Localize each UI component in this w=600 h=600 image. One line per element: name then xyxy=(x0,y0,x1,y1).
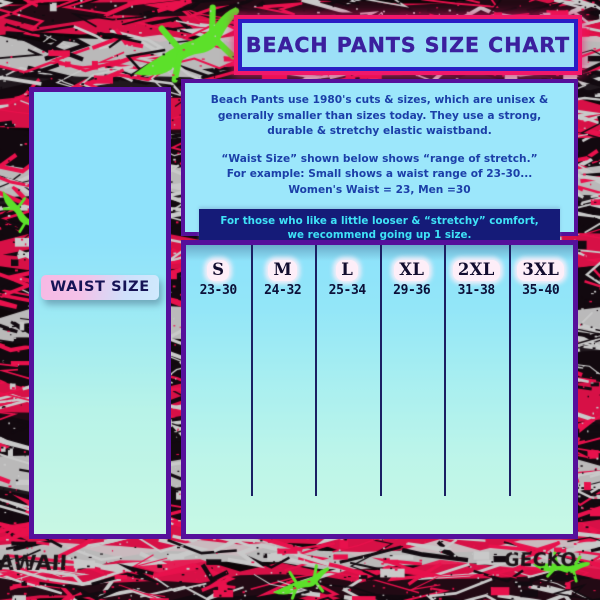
size-column: 2XL31-38 xyxy=(444,245,509,534)
size-column: L25-34 xyxy=(315,245,380,534)
size-range-value: 31-38 xyxy=(458,283,495,298)
size-label: 2XL xyxy=(458,260,495,279)
size-column: 3XL35-40 xyxy=(509,245,574,534)
recommendation-line-1: For those who like a little looser & “st… xyxy=(205,214,554,228)
size-chart-root: BEACH PANTS SIZE CHART WAIST SIZE Beach … xyxy=(0,0,600,600)
size-label-halo: S xyxy=(207,260,229,281)
size-label: L xyxy=(341,260,353,279)
info-example-line-1: “Waist Size” shown below shows “range of… xyxy=(199,152,560,168)
size-table-panel: S23-30M24-32L25-34XL29-362XL31-383XL35-4… xyxy=(181,240,578,539)
info-example-line-3: Women's Waist = 23, Men =30 xyxy=(199,183,560,199)
info-example-text: “Waist Size” shown below shows “range of… xyxy=(199,152,560,199)
size-table: S23-30M24-32L25-34XL29-362XL31-383XL35-4… xyxy=(186,245,573,534)
size-label: M xyxy=(273,260,292,279)
info-example-line-2: For example: Small shows a waist range o… xyxy=(199,167,560,183)
info-panel: Beach Pants use 1980's cuts & sizes, whi… xyxy=(181,79,578,236)
size-label-halo: XL xyxy=(394,260,429,281)
size-range-value: 25-34 xyxy=(329,283,366,298)
size-label-halo: 2XL xyxy=(453,260,500,281)
size-column: M24-32 xyxy=(251,245,316,534)
size-label-halo: L xyxy=(336,260,358,281)
page-title: BEACH PANTS SIZE CHART xyxy=(246,33,570,57)
size-label-halo: 3XL xyxy=(517,260,564,281)
size-label: 3XL xyxy=(522,260,559,279)
info-intro-text: Beach Pants use 1980's cuts & sizes, whi… xyxy=(199,93,560,140)
size-label: S xyxy=(212,260,224,279)
size-column: S23-30 xyxy=(186,245,251,534)
size-label: XL xyxy=(399,260,424,279)
waist-size-label: WAIST SIZE xyxy=(50,279,150,295)
size-label-halo: M xyxy=(268,260,297,281)
size-range-value: 29-36 xyxy=(393,283,430,298)
waist-size-badge-wrap: WAIST SIZE xyxy=(34,275,166,300)
title-banner: BEACH PANTS SIZE CHART xyxy=(238,19,578,71)
size-column: XL29-36 xyxy=(380,245,445,534)
waist-size-badge: WAIST SIZE xyxy=(41,275,159,300)
size-range-value: 23-30 xyxy=(200,283,237,298)
waist-size-panel: WAIST SIZE xyxy=(29,87,171,539)
size-range-value: 24-32 xyxy=(264,283,301,298)
size-range-value: 35-40 xyxy=(522,283,559,298)
